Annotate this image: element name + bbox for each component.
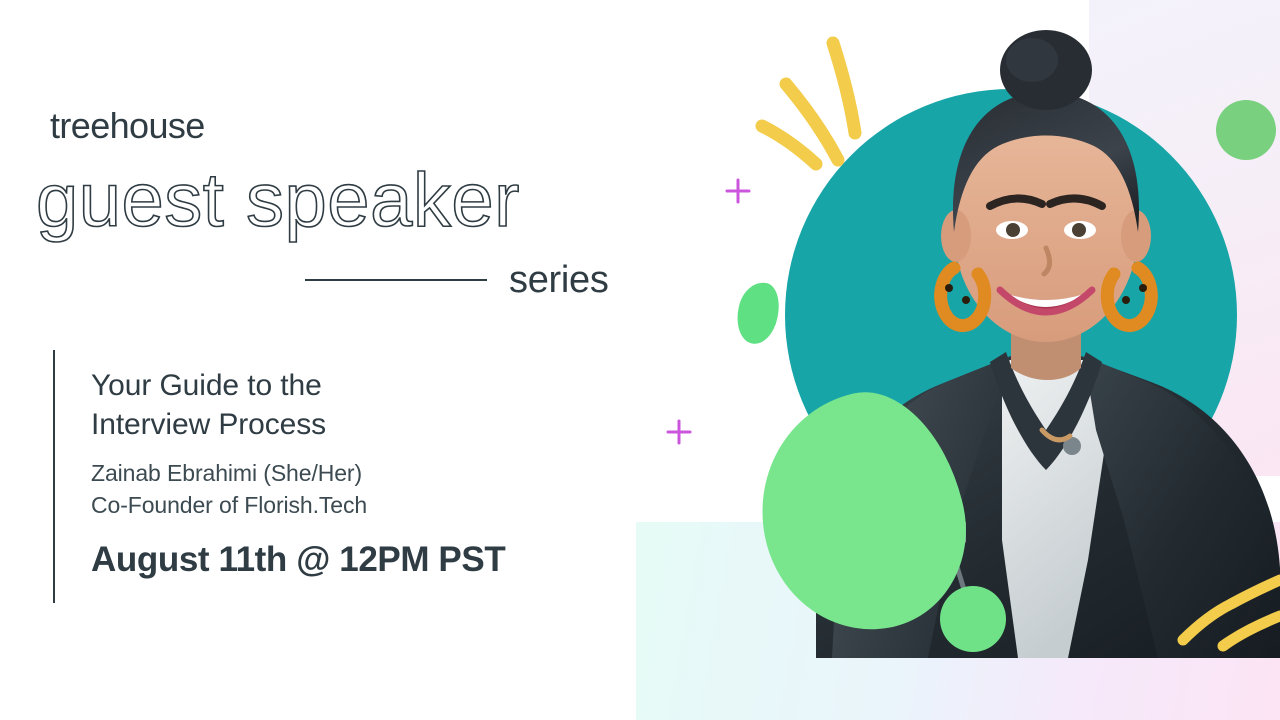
headline-outline: guest speaker [36, 163, 520, 239]
vertical-accent-rule [53, 350, 55, 603]
talk-title: Your Guide to the Interview Process [91, 366, 631, 444]
text-column: treehouse guest speaker series Your Guid… [0, 0, 660, 720]
series-label: series [509, 261, 609, 299]
promo-slide: treehouse guest speaker series Your Guid… [0, 0, 1280, 720]
speaker-role: Co-Founder of Florish.Tech [91, 490, 631, 522]
series-row: series [305, 256, 625, 304]
green-dot-shape [940, 586, 1006, 652]
brand-name: treehouse [50, 108, 205, 144]
green-pill-shape [732, 279, 784, 348]
event-info-block: Your Guide to the Interview Process Zain… [91, 366, 631, 580]
speaker-name: Zainab Ebrahimi (She/Her) [91, 458, 631, 490]
event-datetime: August 11th @ 12PM PST [91, 541, 631, 580]
series-divider-rule [305, 279, 487, 281]
